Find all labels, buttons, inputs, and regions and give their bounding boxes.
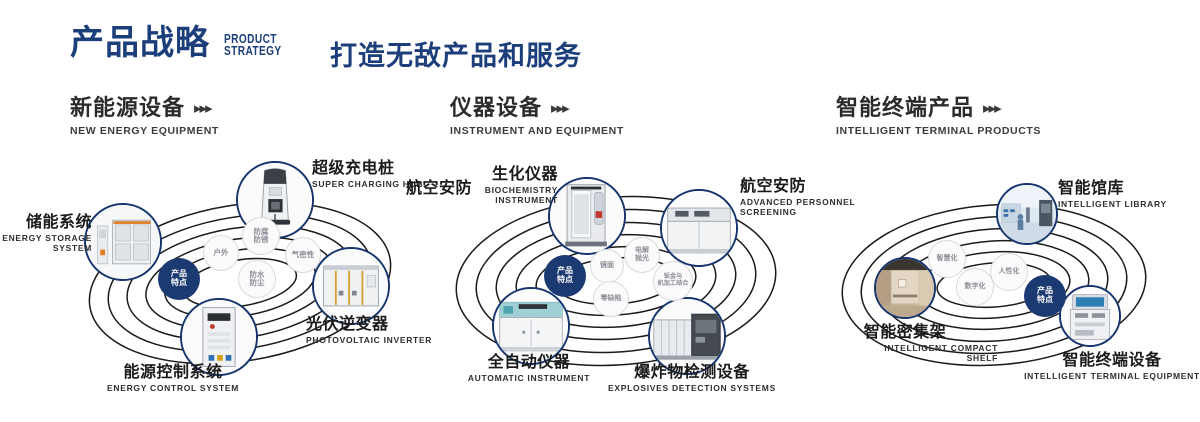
compact-shelf-icon: [876, 259, 934, 317]
section-heading-intelligent: 智能终端产品 ▸▸▸ INTELLIGENT TERMINAL PRODUCTS: [836, 96, 1041, 137]
section-subtitle-new-energy: NEW ENERGY EQUIPMENT: [70, 125, 219, 137]
feature-bubble-electropolishing[interactable]: 电解 抛光: [624, 237, 660, 273]
label-intelligent-terminal-equipment: 智能终端设备 INTELLIGENT TERMINAL EQUIPMENT: [1018, 351, 1200, 381]
section-heading-new-energy: 新能源设备 ▸▸▸ NEW ENERGY EQUIPMENT: [70, 96, 219, 137]
node-biochemistry-instrument[interactable]: [548, 177, 626, 255]
feature-bubble-waterproof[interactable]: 防水 防尘: [238, 260, 276, 298]
node-advanced-personnel-screening[interactable]: [660, 189, 738, 267]
label-explosives-detection: 爆炸物检测设备 EXPLOSIVES DETECTION SYSTEMS: [592, 363, 792, 393]
pv-inverter-icon: [314, 249, 388, 323]
poster-canvas: 产品战略 PRODUCT STRATEGY 打造无敌产品和服务 新能源设备 ▸▸…: [0, 0, 1200, 422]
section-heading-instrument: 仪器设备 ▸▸▸ INSTRUMENT AND EQUIPMENT: [450, 96, 624, 137]
node-intelligent-library[interactable]: [996, 183, 1058, 245]
section-subtitle-intelligent: INTELLIGENT TERMINAL PRODUCTS: [836, 125, 1041, 137]
section-title-new-energy: 新能源设备: [70, 96, 185, 121]
label-energy-storage: 储能系统 ENERGY STORAGE SYSTEM: [0, 213, 92, 253]
label-aviation-security-left: 航空安防: [362, 179, 472, 197]
feature-bubble-outdoor[interactable]: 户外: [203, 235, 239, 271]
label-intelligent-compact-shelf: 智能密集架 INTELLIGENT COMPACT SHELF: [812, 323, 998, 363]
chevron-right-icon: ▸▸▸: [983, 100, 1000, 117]
section-title-intelligent: 智能终端产品: [836, 96, 974, 121]
node-energy-storage[interactable]: [84, 203, 162, 281]
feature-bubble-smart[interactable]: 智慧化: [928, 240, 966, 278]
feature-core-product[interactable]: 产品 特点: [544, 255, 586, 297]
library-interior-icon: [998, 185, 1056, 243]
feature-bubble-sheetmetal-machining[interactable]: 钣金与 机加工结合: [653, 261, 693, 301]
page-title: 产品战略: [70, 26, 210, 60]
node-intelligent-terminal-equipment[interactable]: [1059, 285, 1121, 347]
biochem-scanner-icon: [550, 179, 624, 253]
energy-storage-cabinet-icon: [86, 205, 160, 279]
cluster-instrument: 生化仪器 BIOCHEMISTRY INSTRUMENT 航空安防 航空安防 A…: [420, 155, 820, 405]
page-title-en: PRODUCT STRATEGY: [224, 33, 282, 60]
feature-core-product[interactable]: 产品 特点: [1024, 275, 1066, 317]
feature-bubble-anticorrosion[interactable]: 防腐 防锈: [242, 217, 280, 255]
feature-bubble-mirror[interactable]: 镜面: [590, 249, 624, 283]
feature-core-product[interactable]: 产品 特点: [158, 258, 200, 300]
page-subtitle: 打造无敌产品和服务: [330, 34, 582, 73]
feature-bubble-digital[interactable]: 数字化: [956, 268, 994, 306]
cluster-intelligent-terminal: 智能馆库 INTELLIGENT LIBRARY 智能密集架 INTELLIGE…: [806, 155, 1200, 405]
feature-bubble-zero-defect[interactable]: 零缺陷: [593, 281, 629, 317]
chevron-right-icon: ▸▸▸: [551, 100, 568, 117]
node-intelligent-compact-shelf[interactable]: [874, 257, 936, 319]
screening-machine-icon: [662, 191, 736, 265]
self-service-kiosk-icon: [1061, 287, 1119, 345]
chevron-right-icon: ▸▸▸: [194, 100, 211, 117]
label-intelligent-library: 智能馆库 INTELLIGENT LIBRARY: [1058, 179, 1200, 209]
section-title-instrument: 仪器设备: [450, 96, 542, 121]
feature-bubble-airtight[interactable]: 气密性: [285, 237, 321, 273]
section-subtitle-instrument: INSTRUMENT AND EQUIPMENT: [450, 125, 624, 137]
poster-header: 产品战略 PRODUCT STRATEGY: [70, 26, 298, 60]
label-energy-control: 能源控制系统 ENERGY CONTROL SYSTEM: [78, 363, 268, 393]
feature-bubble-humanized[interactable]: 人性化: [990, 253, 1028, 291]
